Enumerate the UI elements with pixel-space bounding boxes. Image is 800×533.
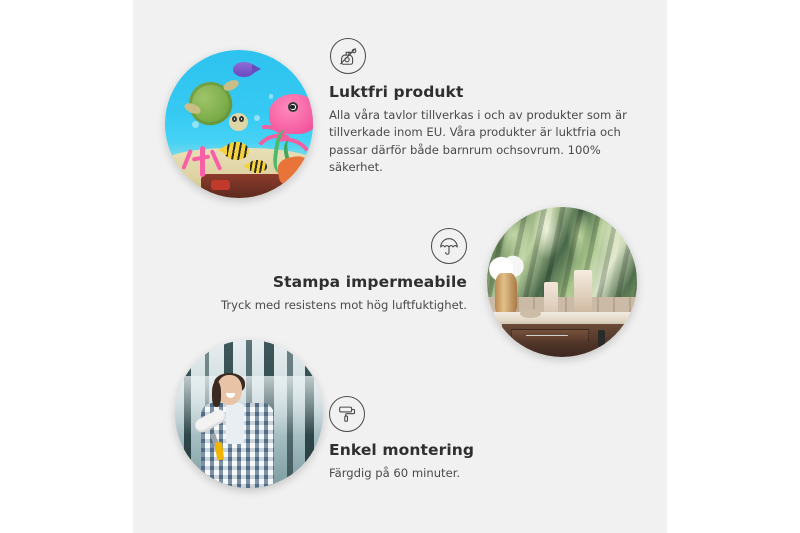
coral-icon <box>178 133 228 177</box>
underwater-illustration <box>165 50 313 198</box>
soap-dish <box>520 309 541 318</box>
vase <box>495 273 518 315</box>
woman-forest-photo <box>175 340 323 488</box>
cabinet-handle <box>598 330 605 347</box>
screenshot-canvas: Luktfri produkt Alla våra tavlor tillver… <box>0 0 800 533</box>
paint-roller-icon <box>329 396 365 432</box>
woman-figure <box>196 373 279 488</box>
no-odour-spray-bottle-icon <box>330 38 366 74</box>
yellow-fish-icon <box>248 160 267 173</box>
icon-wrapper <box>167 228 467 264</box>
vanity-drawer <box>511 329 589 342</box>
icon-wrapper <box>329 396 609 432</box>
face <box>217 375 242 405</box>
cabinet-handle <box>624 330 631 347</box>
content-panel: Luktfri produkt Alla våra tavlor tillver… <box>133 0 667 533</box>
feature-description: Alla våra tavlor tillverkas i och av pro… <box>329 107 629 177</box>
photo-underwater-scene[interactable] <box>165 50 313 198</box>
soap-bottle <box>544 282 558 315</box>
turtle-head <box>229 113 249 131</box>
purple-fish-icon <box>233 62 255 77</box>
feature-title: Enkel montering <box>329 441 609 460</box>
turtle-flipper <box>222 78 240 92</box>
octopus-body <box>269 94 313 134</box>
icon-wrapper <box>329 38 629 74</box>
feature-description: Tryck med resistens mot hög luftfuktighe… <box>167 297 467 315</box>
feature-waterproof-print: Stampa impermeabile Tryck med resistens … <box>167 228 467 314</box>
feature-odour-free: Luktfri produkt Alla våra tavlor tillver… <box>329 38 629 177</box>
umbrella-icon <box>431 228 467 264</box>
hair-side <box>212 382 220 407</box>
feature-title: Luktfri produkt <box>329 83 629 102</box>
photo-bathroom-tropical-wallpaper[interactable] <box>487 207 637 357</box>
wooden-vanity <box>502 324 637 357</box>
sunken-ship-icon <box>201 174 287 198</box>
sea-turtle-icon <box>184 80 249 133</box>
photo-woman-paint-roller-forest[interactable] <box>175 340 323 488</box>
coral-branch <box>209 149 222 171</box>
lotion-bottle <box>574 270 592 315</box>
coral-branch <box>200 146 205 177</box>
feature-description: Färgdig på 60 minuter. <box>329 465 609 483</box>
feature-easy-mounting: Enkel montering Färgdig på 60 minuter. <box>329 396 609 482</box>
bathroom-photo <box>487 207 637 357</box>
inner-shirt <box>226 403 244 445</box>
feature-title: Stampa impermeabile <box>167 273 467 292</box>
octopus-eye <box>288 102 298 112</box>
